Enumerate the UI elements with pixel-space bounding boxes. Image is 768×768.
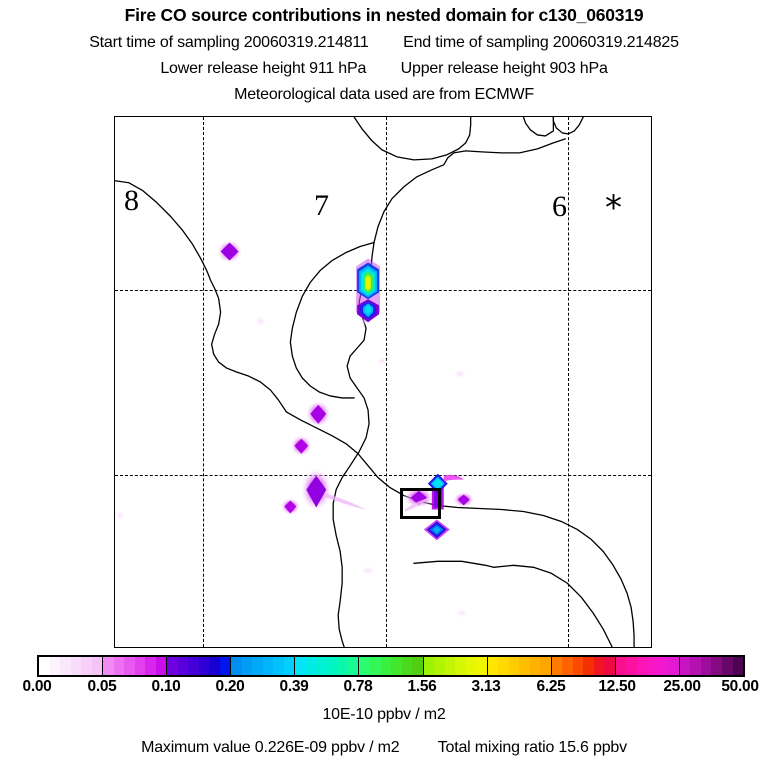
page-title: Fire CO source contributions in nested d… <box>0 0 768 25</box>
colorbar-band <box>488 657 552 675</box>
colorbar-cell <box>445 657 456 675</box>
colorbar-cell <box>658 657 669 675</box>
plume-faint <box>359 565 377 575</box>
colorbar-cell <box>39 657 50 675</box>
plume-cluster-mid <box>280 400 366 516</box>
colorbar-cell <box>488 657 499 675</box>
maximum-value-label: Maximum value 0.226E-09 ppbv / m2 <box>141 739 399 756</box>
colorbar-cell <box>509 657 520 675</box>
map-plot-area[interactable]: 8 7 6 * <box>114 116 652 648</box>
colorbar-cell <box>231 657 242 675</box>
colorbar-tick-label: 1.56 <box>408 679 437 695</box>
colorbar-cell <box>637 657 648 675</box>
map-label-8: 8 <box>124 186 139 216</box>
plume-faint <box>454 608 470 618</box>
colorbar-cell <box>616 657 627 675</box>
colorbar-cell <box>114 657 125 675</box>
colorbar-cell <box>359 657 370 675</box>
colorbar-cell <box>60 657 71 675</box>
colorbar-cell <box>188 657 199 675</box>
colorbar-tick-label: 50.00 <box>721 679 758 695</box>
colorbar-cell <box>711 657 722 675</box>
colorbar-tick-label: 12.50 <box>598 679 635 695</box>
colorbar-band <box>231 657 295 675</box>
colorbar-tick-label: 0.10 <box>152 679 181 695</box>
map-canvas: 8 7 6 * <box>115 117 651 647</box>
colorbar-tick-label: 0.20 <box>216 679 245 695</box>
colorbar-cell <box>50 657 61 675</box>
colorbar-cell <box>71 657 82 675</box>
asterisk-marker-icon: * <box>605 191 622 225</box>
colorbar-band <box>616 657 680 675</box>
met-data-label: Meteorological data used are from ECMWF <box>0 77 768 103</box>
colorbar-cell <box>424 657 435 675</box>
colorbar-cell <box>178 657 189 675</box>
colorbar-cell <box>647 657 658 675</box>
colorbar-cell <box>722 657 733 675</box>
colorbar-tick-label: 6.25 <box>537 679 566 695</box>
map-label-7: 7 <box>314 191 329 221</box>
colorbar-unit-label: 10E-10 ppbv / m2 <box>0 707 768 723</box>
colorbar-cell <box>434 657 445 675</box>
colorbar-cell <box>337 657 348 675</box>
colorbar-cell <box>81 657 92 675</box>
colorbar-tick-label: 25.00 <box>663 679 700 695</box>
colorbar-cell <box>498 657 509 675</box>
colorbar-cell <box>476 657 487 675</box>
colorbar[interactable] <box>37 655 745 677</box>
colorbar-cell <box>402 657 413 675</box>
colorbar-cell <box>135 657 146 675</box>
colorbar-band <box>552 657 616 675</box>
map-label-6: 6 <box>552 192 567 222</box>
colorbar-tick-label: 0.05 <box>88 679 117 695</box>
plume-faint <box>376 356 388 366</box>
start-time-label: Start time of sampling 20060319.214811 <box>89 35 368 51</box>
colorbar-cell <box>573 657 584 675</box>
colorbar-band <box>167 657 231 675</box>
colorbar-cell <box>167 657 178 675</box>
colorbar-cell <box>540 657 551 675</box>
plume-left-mid <box>217 240 243 264</box>
colorbar-cell <box>381 657 392 675</box>
colorbar-cell <box>306 657 317 675</box>
total-mixing-ratio-label: Total mixing ratio 15.6 ppbv <box>438 739 627 756</box>
colorbar-cell <box>252 657 263 675</box>
colorbar-cell <box>145 657 156 675</box>
colorbar-band <box>359 657 423 675</box>
colorbar-cell <box>668 657 679 675</box>
colorbar-cell <box>316 657 327 675</box>
colorbar-cell <box>455 657 466 675</box>
colorbar-tick-label: 0.00 <box>23 679 52 695</box>
plume-faint <box>114 511 126 521</box>
colorbar-cell <box>412 657 423 675</box>
colorbar-cell <box>391 657 402 675</box>
primary-hotspot <box>356 258 380 322</box>
visualization-root: Fire CO source contributions in nested d… <box>0 0 768 768</box>
colorbar-cell <box>594 657 605 675</box>
colorbar-cell <box>680 657 691 675</box>
colorbar-cell <box>348 657 359 675</box>
colorbar-cell <box>295 657 306 675</box>
colorbar-cell <box>284 657 295 675</box>
colorbar-band <box>103 657 167 675</box>
colorbar-band <box>39 657 103 675</box>
colorbar-cell <box>466 657 477 675</box>
colorbar-cell <box>199 657 210 675</box>
concentration-field <box>115 117 651 647</box>
release-height-row: Lower release height 911 hPa Upper relea… <box>0 51 768 77</box>
colorbar-cell <box>552 657 563 675</box>
colorbar-band <box>680 657 743 675</box>
colorbar-tick-label: 0.39 <box>280 679 309 695</box>
highlight-box[interactable] <box>400 488 441 519</box>
colorbar-cell <box>327 657 338 675</box>
colorbar-cell <box>273 657 284 675</box>
colorbar-cell <box>626 657 637 675</box>
colorbar-cell <box>156 657 167 675</box>
colorbar-cell <box>690 657 701 675</box>
colorbar-cell <box>701 657 712 675</box>
colorbar-tick-labels: 0.000.050.100.200.390.781.563.136.2512.5… <box>0 679 768 697</box>
plume-faint <box>453 368 467 380</box>
colorbar-cell <box>92 657 103 675</box>
lower-release-height-label: Lower release height 911 hPa <box>160 61 366 77</box>
upper-release-height-label: Upper release height 903 hPa <box>401 61 608 77</box>
colorbar-cell <box>124 657 135 675</box>
colorbar-cell <box>733 657 744 675</box>
colorbar-cell <box>370 657 381 675</box>
colorbar-cell <box>242 657 253 675</box>
colorbar-cell <box>103 657 114 675</box>
colorbar-tick-label: 0.78 <box>344 679 373 695</box>
header: Fire CO source contributions in nested d… <box>0 0 768 103</box>
colorbar-cell <box>562 657 573 675</box>
colorbar-cell <box>519 657 530 675</box>
colorbar-cell <box>220 657 231 675</box>
end-time-label: End time of sampling 20060319.214825 <box>403 35 679 51</box>
colorbar-band <box>424 657 488 675</box>
colorbar-band <box>295 657 359 675</box>
colorbar-tick-label: 3.13 <box>472 679 501 695</box>
colorbar-cell <box>263 657 274 675</box>
colorbar-cell <box>209 657 220 675</box>
footer-stats: Maximum value 0.226E-09 ppbv / m2 Total … <box>0 740 768 756</box>
sampling-time-row: Start time of sampling 20060319.214811 E… <box>0 25 768 51</box>
colorbar-cell <box>583 657 594 675</box>
colorbar-cell <box>530 657 541 675</box>
plume-faint <box>253 315 267 327</box>
colorbar-cell <box>604 657 615 675</box>
